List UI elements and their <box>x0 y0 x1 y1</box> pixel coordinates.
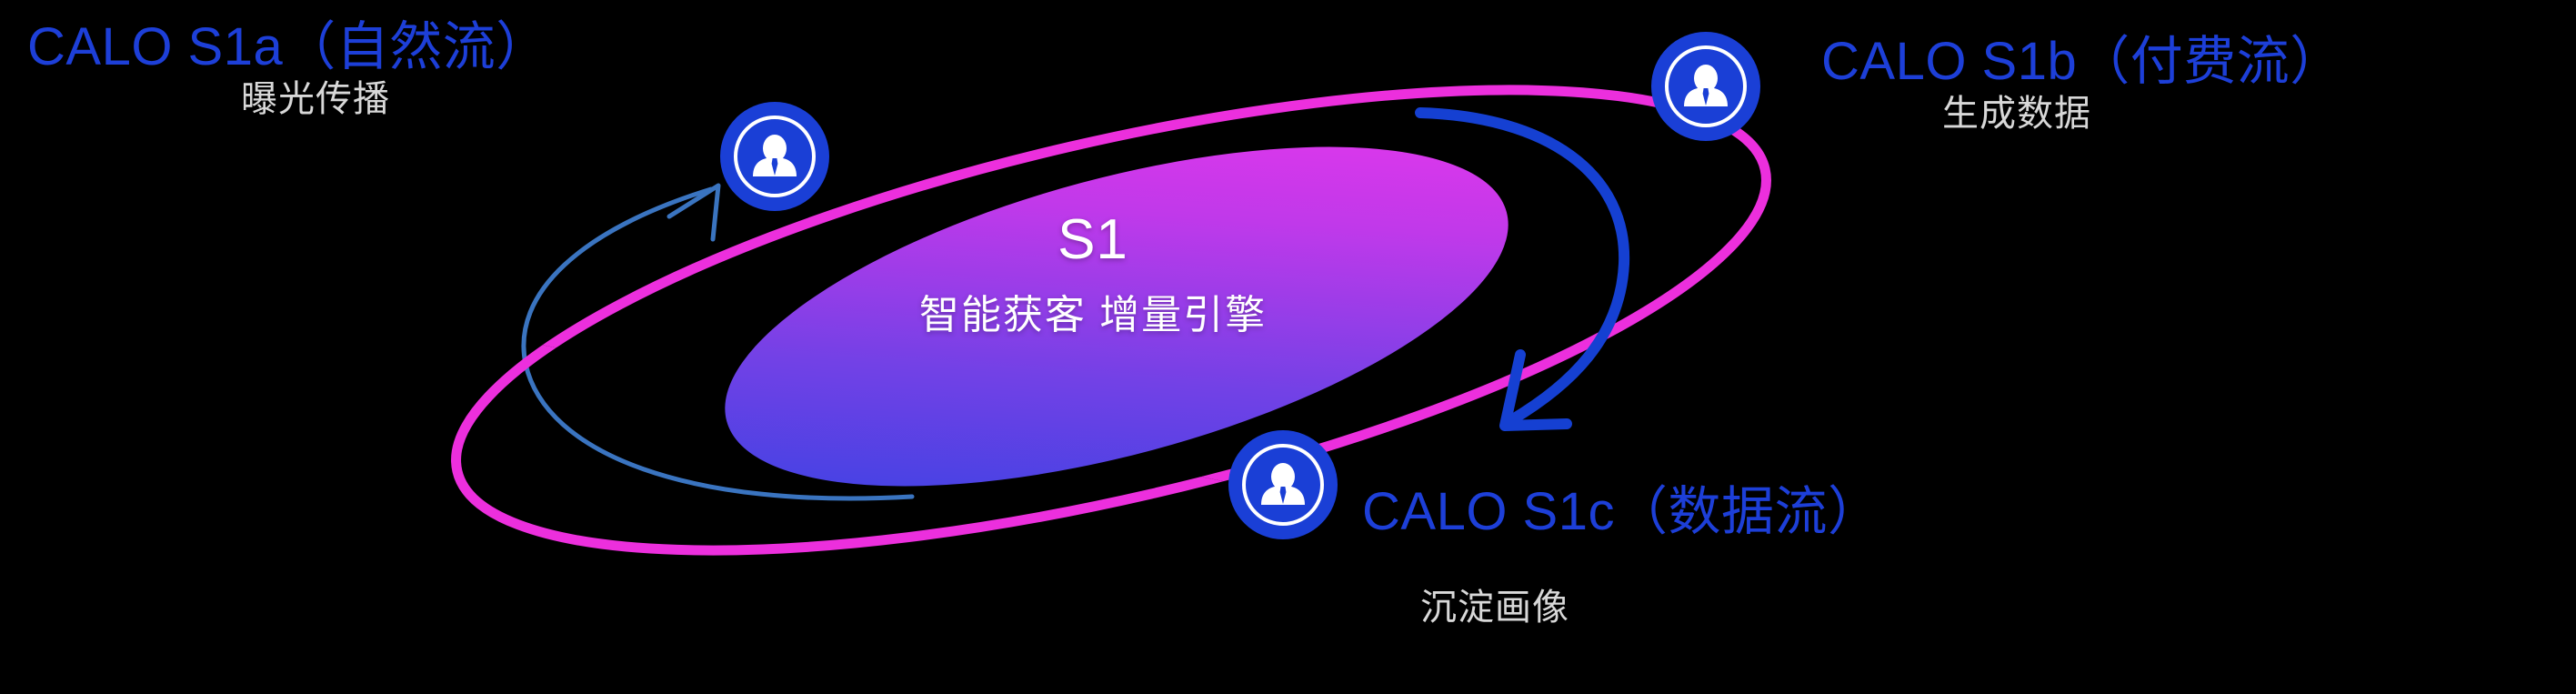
node-label-s1b-subtitle: 生成数据 <box>1942 95 2091 133</box>
node-label-s1c-subtitle: 沉淀画像 <box>1420 588 1569 627</box>
node-label-s1c-title: CALO S1c（数据流） <box>1362 485 1881 540</box>
node-label-s1b-title: CALO S1b（付费流） <box>1821 35 2343 90</box>
node-label-s1a-subtitle: 曝光传播 <box>241 80 390 118</box>
node-icon-s1a[interactable] <box>720 102 829 211</box>
node-icon-s1b[interactable] <box>1651 32 1760 141</box>
diagram-canvas: S1 智能获客 增量引擎 CALO S1a（自然流） 曝光传播 CALO S1b… <box>0 0 2576 694</box>
node-label-s1a-title: CALO S1a（自然流） <box>27 20 549 75</box>
node-icon-s1c[interactable] <box>1228 430 1338 539</box>
